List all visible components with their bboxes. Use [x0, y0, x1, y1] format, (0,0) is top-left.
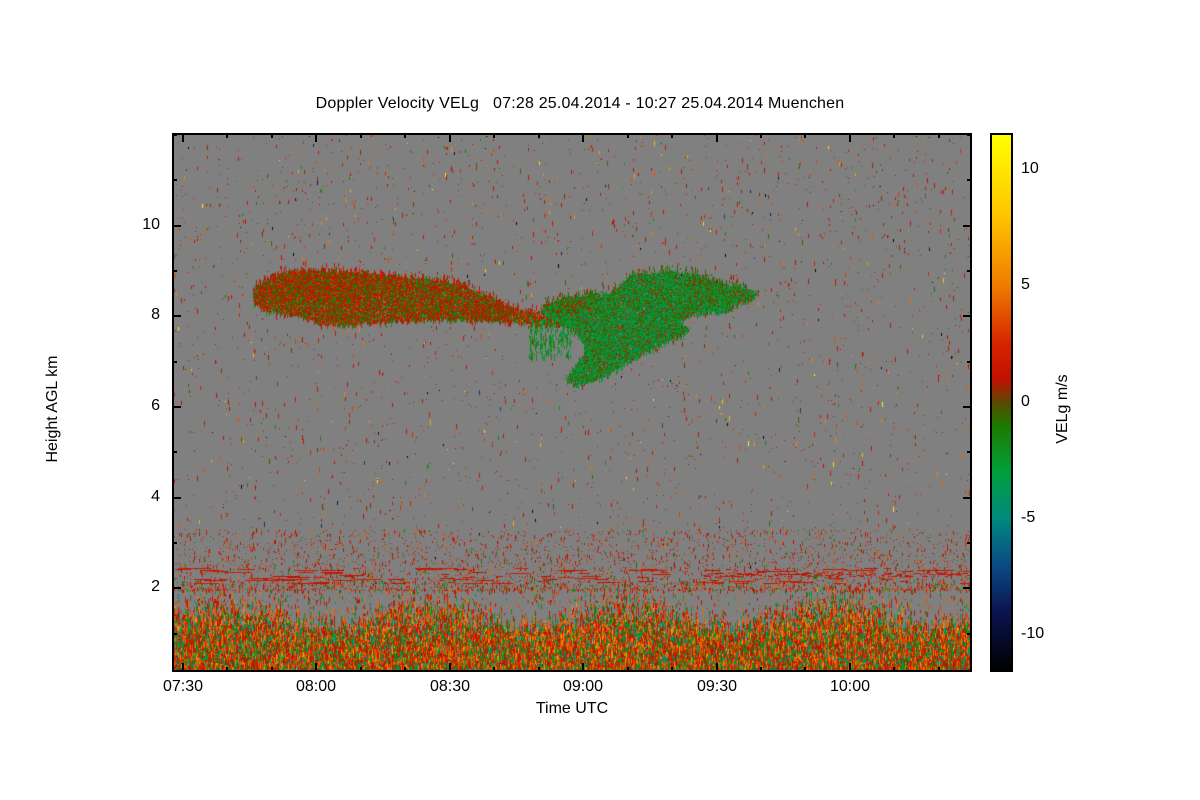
- colorbar-tick-label: -10: [1021, 625, 1044, 643]
- y-tick-minor-right: [967, 270, 972, 272]
- x-tick-minor: [271, 667, 273, 672]
- x-tick-major-top: [582, 133, 584, 142]
- x-tick-minor: [760, 667, 762, 672]
- y-tick-minor: [172, 451, 177, 453]
- x-tick-label: 09:00: [523, 678, 643, 696]
- x-tick-major: [849, 663, 851, 672]
- y-tick-major: [172, 587, 181, 589]
- x-tick-minor-top: [271, 133, 273, 138]
- x-tick-minor-top: [760, 133, 762, 138]
- x-tick-major: [716, 663, 718, 672]
- x-tick-minor: [893, 667, 895, 672]
- x-tick-minor-top: [671, 133, 673, 138]
- y-tick-label: 4: [100, 488, 160, 506]
- y-axis-title: Height AGL km: [44, 309, 62, 509]
- y-tick-label: 6: [100, 397, 160, 415]
- x-tick-minor: [538, 667, 540, 672]
- y-tick-minor-right: [967, 633, 972, 635]
- y-tick-major: [172, 497, 181, 499]
- x-tick-major-top: [849, 133, 851, 142]
- colorbar-title: VELg m/s: [1054, 309, 1072, 509]
- colorbar-tick-label: 10: [1021, 160, 1039, 178]
- x-tick-minor-top: [804, 133, 806, 138]
- x-tick-minor: [226, 667, 228, 672]
- y-tick-minor-right: [967, 451, 972, 453]
- x-tick-label: 08:00: [256, 678, 376, 696]
- y-tick-major: [172, 406, 181, 408]
- x-tick-minor-top: [493, 133, 495, 138]
- y-tick-minor: [172, 542, 177, 544]
- x-tick-minor-top: [404, 133, 406, 138]
- y-tick-major-right: [963, 315, 972, 317]
- y-tick-label: 8: [100, 306, 160, 324]
- x-axis-title: Time UTC: [172, 700, 972, 718]
- y-tick-minor: [172, 361, 177, 363]
- colorbar-tick-label: 5: [1021, 276, 1030, 294]
- x-tick-minor: [938, 667, 940, 672]
- y-tick-minor-right: [967, 134, 972, 136]
- heatmap-canvas: [174, 135, 970, 670]
- y-tick-minor-right: [967, 361, 972, 363]
- y-tick-label: 10: [100, 216, 160, 234]
- x-tick-major: [182, 663, 184, 672]
- x-tick-label: 10:00: [790, 678, 910, 696]
- x-tick-label: 09:30: [657, 678, 777, 696]
- y-tick-minor: [172, 134, 177, 136]
- page-title: Doppler Velocity VELg 07:28 25.04.2014 -…: [0, 95, 1160, 113]
- x-tick-label: 07:30: [123, 678, 243, 696]
- y-tick-major-right: [963, 497, 972, 499]
- x-tick-minor: [627, 667, 629, 672]
- y-tick-major: [172, 225, 181, 227]
- x-tick-minor-top: [627, 133, 629, 138]
- x-tick-major-top: [315, 133, 317, 142]
- colorbar-gradient: [992, 135, 1011, 670]
- x-tick-minor: [804, 667, 806, 672]
- y-tick-major-right: [963, 406, 972, 408]
- doppler-velocity-figure: Doppler Velocity VELg 07:28 25.04.2014 -…: [0, 0, 1200, 800]
- x-tick-major-top: [716, 133, 718, 142]
- x-tick-major: [582, 663, 584, 672]
- x-tick-minor-top: [893, 133, 895, 138]
- plot-area: [172, 133, 972, 672]
- y-tick-major-right: [963, 587, 972, 589]
- y-tick-minor: [172, 270, 177, 272]
- x-tick-minor-top: [938, 133, 940, 138]
- y-tick-minor: [172, 179, 177, 181]
- x-tick-major: [449, 663, 451, 672]
- y-tick-label: 2: [100, 578, 160, 596]
- x-tick-minor-top: [538, 133, 540, 138]
- y-tick-major: [172, 315, 181, 317]
- colorbar-tick-label: 0: [1021, 393, 1030, 411]
- y-tick-minor-right: [967, 179, 972, 181]
- y-tick-minor: [172, 633, 177, 635]
- x-tick-minor-top: [226, 133, 228, 138]
- x-tick-label: 08:30: [390, 678, 510, 696]
- y-tick-minor-right: [967, 542, 972, 544]
- x-tick-major-top: [449, 133, 451, 142]
- colorbar: [990, 133, 1013, 672]
- x-tick-minor: [404, 667, 406, 672]
- x-tick-major-top: [182, 133, 184, 142]
- x-tick-major: [315, 663, 317, 672]
- x-tick-minor: [671, 667, 673, 672]
- colorbar-tick-label: -5: [1021, 509, 1035, 527]
- x-tick-minor: [493, 667, 495, 672]
- x-tick-minor: [360, 667, 362, 672]
- x-tick-minor-top: [360, 133, 362, 138]
- y-tick-major-right: [963, 225, 972, 227]
